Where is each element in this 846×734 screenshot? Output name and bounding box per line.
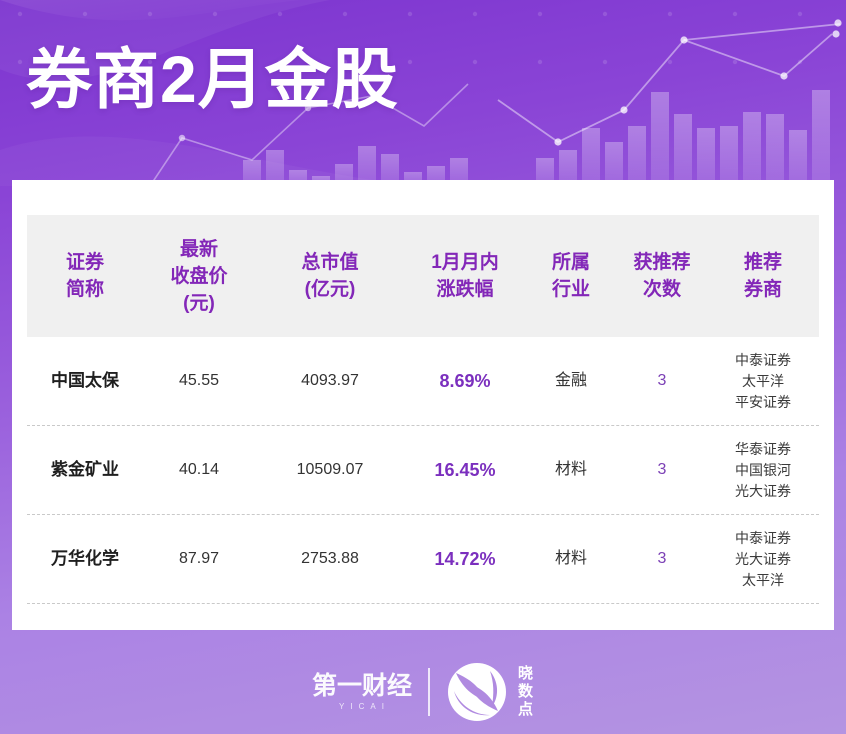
column-header-market-cap: 总市值 (亿元): [255, 249, 405, 303]
xs-circle-icon: [446, 661, 508, 723]
cell-stock-name: 万华化学: [27, 548, 143, 570]
cell-brokers: 华泰证券 中国银河 光大证券: [707, 439, 819, 502]
column-header-stock-name: 证券 简称: [27, 249, 143, 303]
cell-latest-price: 45.55: [143, 370, 255, 392]
xiaoshudian-char-1: 晓: [518, 665, 534, 683]
cell-industry: 材料: [525, 548, 617, 570]
cell-latest-price: 40.14: [143, 459, 255, 481]
hero-banner: 券商2月金股: [0, 0, 846, 186]
column-header-industry: 所属 行业: [525, 249, 617, 303]
column-header-monthly-change: 1月月内 涨跌幅: [405, 249, 525, 303]
cell-monthly-change: 8.69%: [405, 370, 525, 392]
xiaoshudian-char-3: 点: [518, 701, 534, 719]
table-card: 证券 简称 最新 收盘价 (元) 总市值 (亿元) 1月月内 涨跌幅 所属 行业…: [12, 180, 834, 630]
footer-divider: [428, 668, 430, 716]
poster-root: 券商2月金股 证券 简称 最新 收盘价 (元) 总市值 (亿元) 1月月内 涨跌…: [0, 0, 846, 734]
cell-market-cap: 2753.88: [255, 548, 405, 570]
cell-monthly-change: 16.45%: [405, 459, 525, 481]
cell-latest-price: 87.97: [143, 548, 255, 570]
yicai-brand-en: YICAI: [334, 702, 390, 711]
cell-stock-name: 紫金矿业: [27, 459, 143, 481]
xiaoshudian-label: 晓 数 点: [518, 665, 534, 719]
table-row: 紫金矿业 40.14 10509.07 16.45% 材料 3 华泰证券 中国银…: [27, 426, 819, 515]
yicai-logo: 第一财经 YICAI: [312, 673, 412, 711]
poster-title: 券商2月金股: [26, 42, 399, 116]
cell-recommend-count: 3: [617, 548, 707, 570]
footer: 第一财经 YICAI 晓 数 点: [0, 650, 846, 734]
cell-brokers: 中泰证券 太平洋 平安证券: [707, 350, 819, 413]
footer-inner: 第一财经 YICAI 晓 数 点: [312, 661, 534, 723]
yicai-brand-cn: 第一财经: [312, 673, 412, 700]
cell-industry: 金融: [525, 370, 617, 392]
table-header-row: 证券 简称 最新 收盘价 (元) 总市值 (亿元) 1月月内 涨跌幅 所属 行业…: [27, 215, 819, 337]
cell-market-cap: 10509.07: [255, 459, 405, 481]
cell-stock-name: 中国太保: [27, 370, 143, 392]
table-row: 中国太保 45.55 4093.97 8.69% 金融 3 中泰证券 太平洋 平…: [27, 337, 819, 426]
cell-recommend-count: 3: [617, 370, 707, 392]
column-header-brokers: 推荐 券商: [707, 249, 819, 303]
stock-table: 证券 简称 最新 收盘价 (元) 总市值 (亿元) 1月月内 涨跌幅 所属 行业…: [27, 215, 819, 604]
xiaoshudian-logo: 晓 数 点: [446, 661, 534, 723]
table-row: 万华化学 87.97 2753.88 14.72% 材料 3 中泰证券 光大证券…: [27, 515, 819, 604]
cell-market-cap: 4093.97: [255, 370, 405, 392]
cell-monthly-change: 14.72%: [405, 548, 525, 570]
column-header-latest-price: 最新 收盘价 (元): [143, 236, 255, 317]
cell-recommend-count: 3: [617, 459, 707, 481]
column-header-recommend-count: 获推荐 次数: [617, 249, 707, 303]
xiaoshudian-char-2: 数: [518, 683, 534, 701]
yicai-logo-mark: 第一财经: [312, 673, 412, 700]
cell-industry: 材料: [525, 459, 617, 481]
cell-brokers: 中泰证券 光大证券 太平洋: [707, 528, 819, 591]
